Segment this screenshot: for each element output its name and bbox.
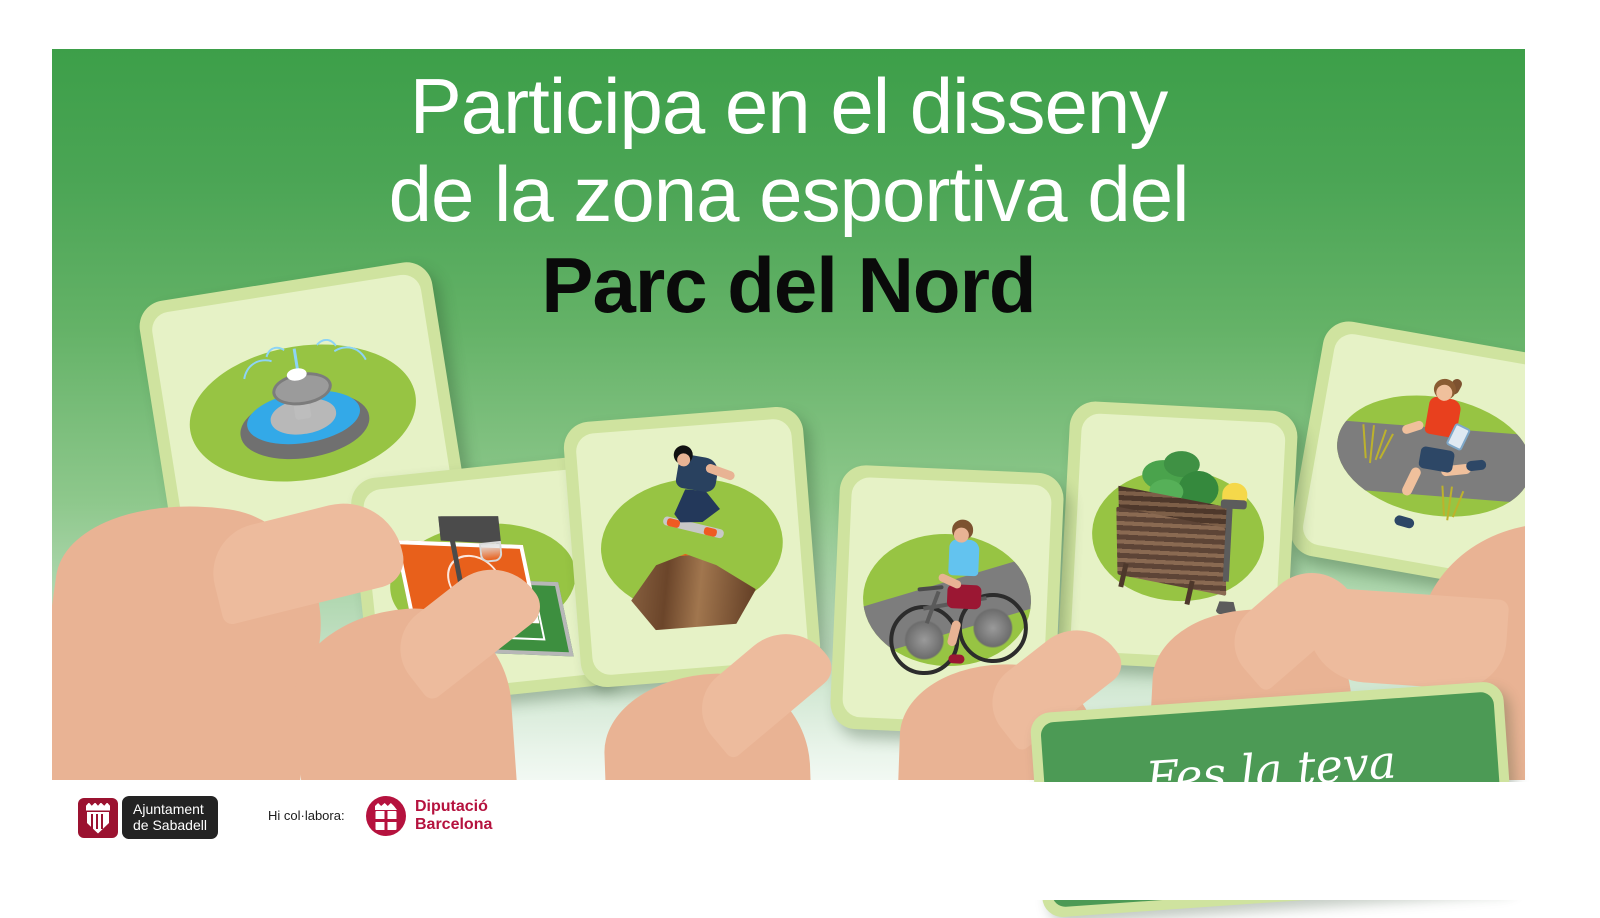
hand-arm-1 xyxy=(52,487,336,780)
diputacio-wordmark: Diputació Barcelona xyxy=(415,798,492,834)
poster-banner xyxy=(52,49,1525,780)
hand-arm-3 xyxy=(602,671,817,780)
sabadell-line-2: de Sabadell xyxy=(133,817,207,833)
footer-logos: Ajuntament de Sabadell Hi col·labora: Di… xyxy=(0,782,1600,900)
hand-arm-2 xyxy=(290,602,530,780)
diputacio-crest-icon xyxy=(366,796,406,836)
collaborator-label: Hi col·labora: xyxy=(268,808,345,823)
sabadell-line-1: Ajuntament xyxy=(133,801,207,817)
diputacio-barcelona-logo[interactable]: Diputació Barcelona xyxy=(366,796,492,836)
sabadell-wordmark: Ajuntament de Sabadell xyxy=(122,796,218,839)
ajuntament-de-sabadell-logo[interactable]: Ajuntament de Sabadell xyxy=(78,796,218,839)
diputacio-line-2: Barcelona xyxy=(415,816,492,834)
sabadell-crest-icon xyxy=(78,798,118,838)
diputacio-line-1: Diputació xyxy=(415,798,492,816)
